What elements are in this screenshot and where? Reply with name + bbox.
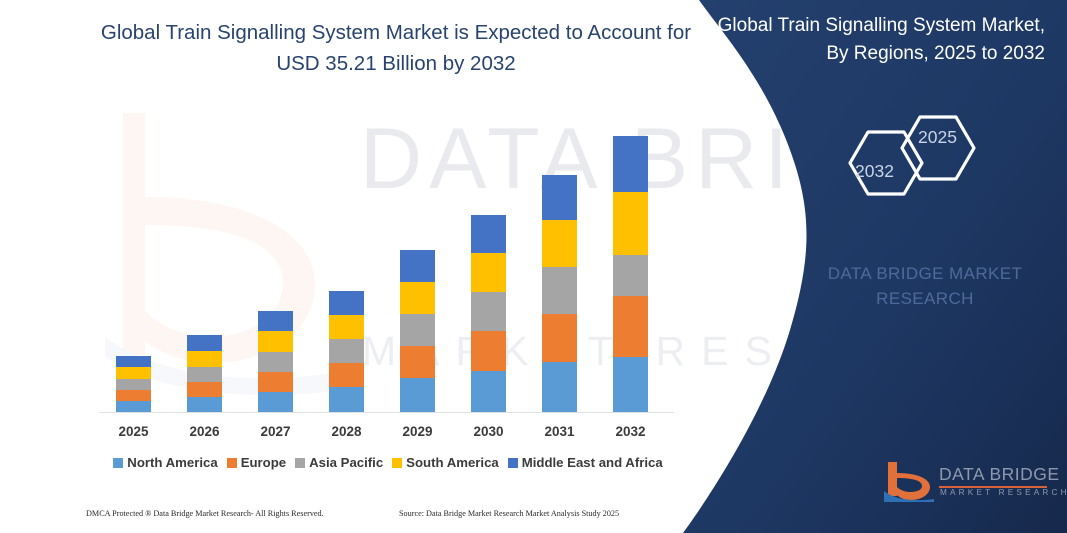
data-bridge-logo: DATA BRIDGE MARKET RESEARCH	[884, 460, 1049, 504]
dbmr-b-mark-icon	[884, 460, 934, 502]
hexagon-pair-graphic	[828, 108, 988, 218]
hexagon-2032-label: 2032	[855, 161, 894, 182]
hexagon-2025-label: 2025	[918, 127, 957, 148]
panel-title: Global Train Signalling System Market, B…	[715, 12, 1045, 67]
logo-name-bottom: MARKET RESEARCH	[940, 488, 1067, 497]
logo-name-top: DATA BRIDGE	[939, 464, 1060, 485]
panel-brand-text: DATA BRIDGE MARKET RESEARCH	[800, 262, 1050, 311]
right-navy-panel: Global Train Signalling System Market, B…	[0, 0, 1067, 533]
infographic-canvas: DATA BRIDGE MARKET RESEARCH Global Train…	[0, 0, 1067, 533]
